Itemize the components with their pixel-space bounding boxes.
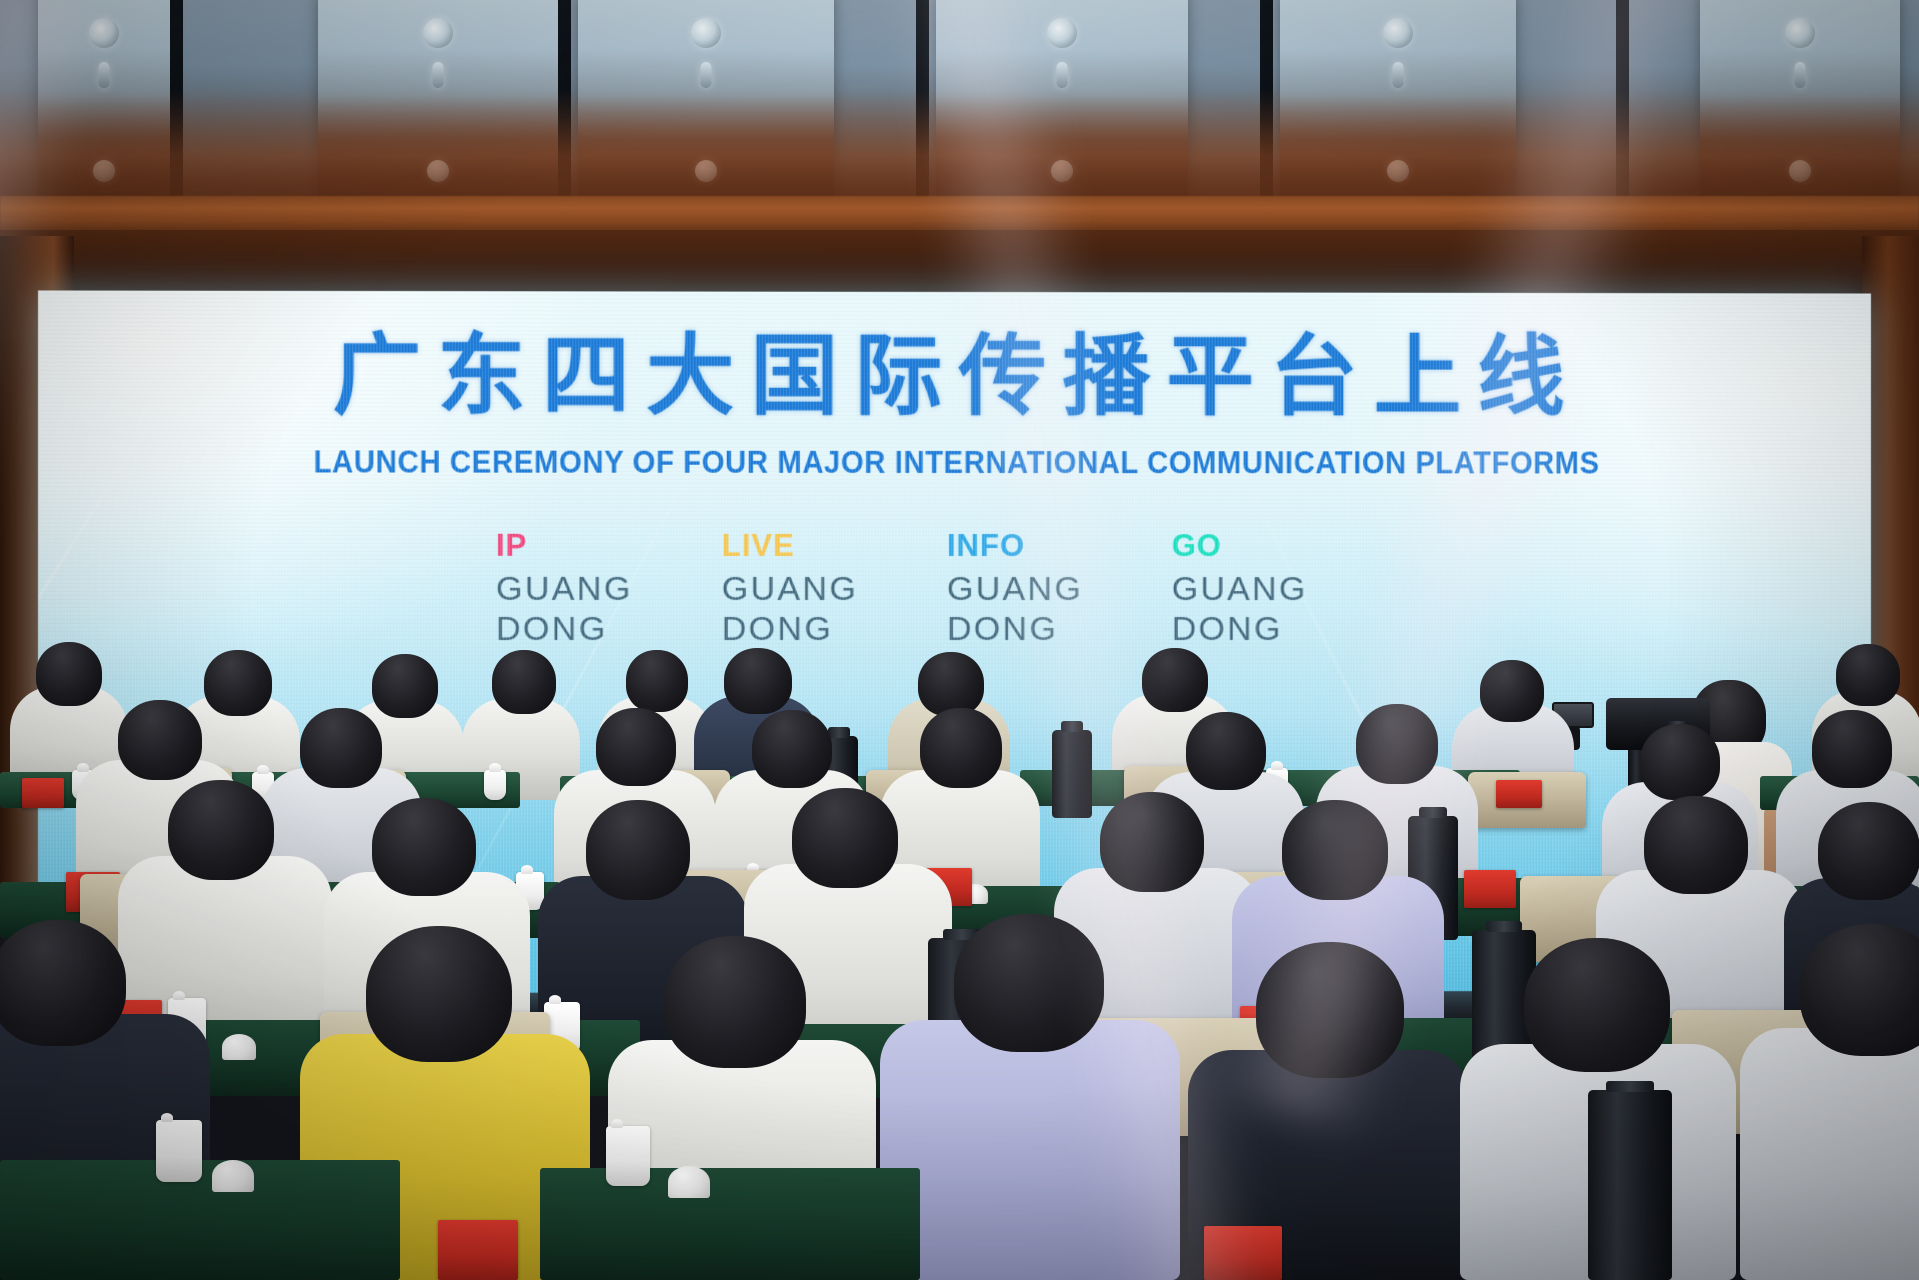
ceiling <box>0 0 1919 300</box>
attendee-head <box>0 920 126 1046</box>
attendee-head <box>372 654 438 718</box>
conference-table <box>540 1168 920 1280</box>
platform-word: IP <box>496 530 722 561</box>
name-card <box>1464 870 1516 908</box>
thermos-flask <box>1588 1090 1672 1280</box>
platform-line-1: GUANG <box>496 570 722 610</box>
attendee-head <box>596 708 676 786</box>
thermos-flask <box>1052 730 1092 818</box>
teacup <box>156 1120 202 1182</box>
attendee-head <box>1644 796 1748 894</box>
attendee-head <box>664 936 806 1068</box>
attendee-head <box>954 914 1104 1052</box>
attendee-head <box>372 798 476 896</box>
attendee-body <box>1740 1028 1919 1280</box>
attendee-head <box>1812 710 1892 788</box>
platform-line-1: GUANG <box>1172 570 1396 610</box>
attendee-head <box>1142 648 1208 712</box>
attendee-head <box>1640 724 1720 800</box>
attendee-head <box>920 708 1002 788</box>
attendee-head <box>1524 938 1670 1072</box>
attendee-head <box>1818 802 1919 900</box>
attendee-head <box>626 650 688 712</box>
attendee-head <box>204 650 272 716</box>
name-card <box>22 778 64 808</box>
attendee-head <box>366 926 512 1062</box>
attendee-head <box>1100 792 1204 892</box>
attendee-head <box>752 710 832 788</box>
attendee-head <box>300 708 382 788</box>
attendee-head <box>168 780 274 880</box>
attendee-head <box>1282 800 1388 900</box>
attendee-head <box>1186 712 1266 790</box>
wall-shadow-band <box>0 230 1919 300</box>
table-microphone-base <box>222 1034 256 1060</box>
teacup <box>606 1126 650 1186</box>
attendee-head <box>792 788 898 888</box>
attendee-head <box>918 652 984 716</box>
platform-line-1: GUANG <box>947 570 1172 610</box>
attendee-head <box>1480 660 1544 722</box>
name-card <box>1204 1226 1282 1280</box>
table-microphone-base <box>668 1166 710 1198</box>
platform-word: GO <box>1172 530 1396 561</box>
attendee-head <box>586 800 690 900</box>
attendee-head <box>1256 942 1404 1078</box>
attendee-head <box>492 650 556 714</box>
attendee-head <box>1356 704 1438 784</box>
attendee-head <box>724 648 792 714</box>
attendee-head <box>1836 644 1900 706</box>
title-english: LAUNCH CEREMONY OF FOUR MAJOR INTERNATIO… <box>103 443 1808 481</box>
table-microphone-base <box>212 1160 254 1192</box>
attendee-head <box>118 700 202 780</box>
platform-word: INFO <box>947 530 1172 561</box>
name-card <box>1496 780 1542 808</box>
conference-hall-scene: 广东四大国际传播平台上线 LAUNCH CEREMONY OF FOUR MAJ… <box>0 0 1919 1280</box>
platform-word: LIVE <box>722 530 947 561</box>
attendee-head <box>1800 924 1919 1056</box>
platform-line-1: GUANG <box>722 570 947 610</box>
attendee-head <box>36 642 102 706</box>
attendee-body <box>880 1020 1180 1280</box>
teacup <box>484 770 506 800</box>
name-card <box>438 1220 518 1280</box>
audience-area <box>0 620 1919 1280</box>
title-chinese: 广东四大国际传播平台上线 <box>38 331 1871 421</box>
